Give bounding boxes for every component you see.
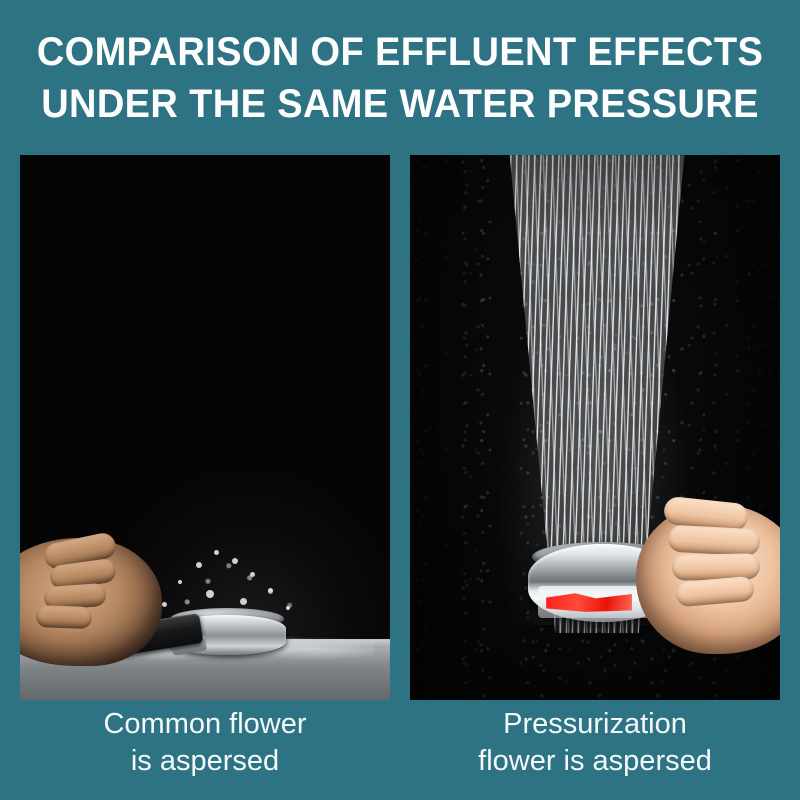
water-droplet xyxy=(250,572,255,577)
water-droplet xyxy=(268,588,273,593)
water-droplet xyxy=(178,580,182,584)
finger xyxy=(36,605,93,629)
product-comparison-poster: COMPARISON OF EFFLUENT EFFECTS UNDER THE… xyxy=(0,0,800,800)
caption-pressurization-line-1: Pressurization xyxy=(410,706,780,743)
caption-common-line-1: Common flower xyxy=(20,706,390,743)
water-droplet xyxy=(286,606,290,610)
hand-holding-pressurization-shower xyxy=(636,504,780,654)
hand-holding-common-shower xyxy=(20,538,162,666)
water-droplet xyxy=(240,598,247,605)
comparison-panels xyxy=(20,155,780,700)
title-line-1: COMPARISON OF EFFLUENT EFFECTS xyxy=(20,26,780,78)
caption-pressurization-shower: Pressurization flower is aspersed xyxy=(410,706,780,780)
finger xyxy=(672,553,760,581)
water-droplet xyxy=(196,562,202,568)
title-line-2: UNDER THE SAME WATER PRESSURE xyxy=(20,78,780,130)
photo-panel-common-shower xyxy=(20,155,390,700)
caption-common-line-2: is aspersed xyxy=(20,743,390,780)
water-droplet xyxy=(214,550,219,555)
panel-captions: Common flower is aspersed Pressurization… xyxy=(20,706,780,780)
water-droplet xyxy=(206,590,214,598)
caption-common-shower: Common flower is aspersed xyxy=(20,706,390,780)
water-droplet xyxy=(162,602,167,607)
caption-pressurization-line-2: flower is aspersed xyxy=(410,743,780,780)
finger xyxy=(675,576,755,608)
water-droplet xyxy=(232,558,238,564)
finger xyxy=(667,525,760,557)
red-led-indicator xyxy=(546,592,632,612)
photo-panel-pressurization-shower xyxy=(410,155,780,700)
poster-title: COMPARISON OF EFFLUENT EFFECTS UNDER THE… xyxy=(0,26,800,130)
